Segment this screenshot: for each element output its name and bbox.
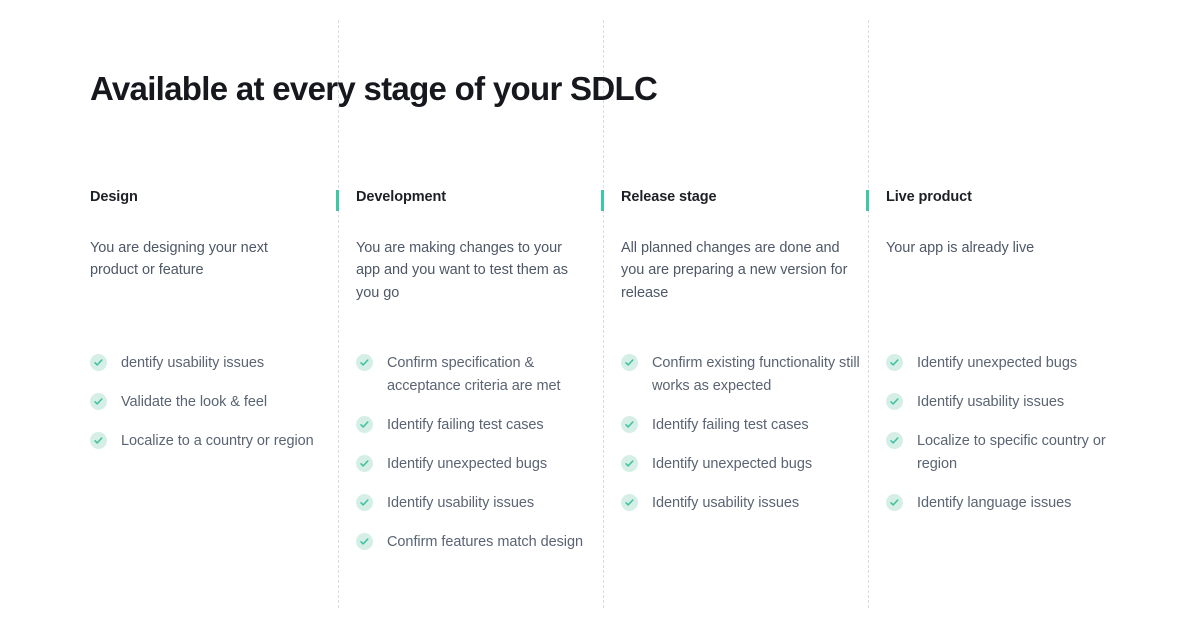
list-item: dentify usability issues — [90, 352, 330, 375]
check-circle-icon — [90, 393, 107, 410]
column-title: Design — [90, 188, 322, 207]
list-item-label: dentify usability issues — [107, 352, 264, 375]
list-item-label: Identify language issues — [903, 492, 1071, 515]
column-accent-bar — [866, 190, 869, 211]
list-item: Identify unexpected bugs — [621, 453, 861, 476]
slide-root: Available at every stage of your SDLC De… — [0, 0, 1200, 630]
stage-column-development: Development You are making changes to yo… — [356, 188, 588, 304]
list-item: Localize to specific country or region — [886, 430, 1126, 476]
list-item-label: Localize to specific country or region — [903, 430, 1126, 476]
list-item-label: Confirm specification & acceptance crite… — [373, 352, 596, 398]
column-accent-bar — [601, 190, 604, 211]
column-title: Development — [356, 188, 588, 207]
list-item-label: Identify usability issues — [638, 492, 799, 515]
list-item-label: Validate the look & feel — [107, 391, 267, 414]
check-circle-icon — [90, 432, 107, 449]
check-circle-icon — [886, 393, 903, 410]
column-accent-bar — [336, 190, 339, 211]
list-item: Confirm existing functionality still wor… — [621, 352, 861, 398]
list-item-label: Localize to a country or region — [107, 430, 314, 453]
list-item: Identify usability issues — [621, 492, 861, 515]
stage-column-live-product: Live product Your app is already live Id… — [886, 188, 1118, 259]
list-item: Identify usability issues — [356, 492, 596, 515]
column-divider-3 — [868, 20, 869, 608]
column-title: Live product — [886, 188, 1118, 207]
check-circle-icon — [621, 494, 638, 511]
check-circle-icon — [90, 354, 107, 371]
list-item-label: Identify usability issues — [373, 492, 534, 515]
column-checklist: Identify unexpected bugs Identify usabil… — [886, 352, 1126, 531]
list-item-label: Identify unexpected bugs — [638, 453, 812, 476]
column-title: Release stage — [621, 188, 853, 207]
list-item-label: Confirm existing functionality still wor… — [638, 352, 861, 398]
page-title: Available at every stage of your SDLC — [90, 70, 657, 108]
check-circle-icon — [886, 432, 903, 449]
list-item: Identify unexpected bugs — [886, 352, 1126, 375]
stage-column-release-stage: Release stage All planned changes are do… — [621, 188, 853, 304]
list-item: Validate the look & feel — [90, 391, 330, 414]
check-circle-icon — [621, 354, 638, 371]
list-item: Identify failing test cases — [621, 414, 861, 437]
column-divider-2 — [603, 20, 604, 608]
check-circle-icon — [356, 416, 373, 433]
check-circle-icon — [356, 455, 373, 472]
list-item-label: Identify unexpected bugs — [373, 453, 547, 476]
list-item: Confirm features match design — [356, 531, 596, 554]
check-circle-icon — [356, 354, 373, 371]
list-item-label: Confirm features match design — [373, 531, 583, 554]
column-divider-1 — [338, 20, 339, 608]
list-item: Identify unexpected bugs — [356, 453, 596, 476]
list-item: Localize to a country or region — [90, 430, 330, 453]
column-description: You are making changes to your app and y… — [356, 207, 584, 304]
list-item: Identify usability issues — [886, 391, 1126, 414]
check-circle-icon — [621, 455, 638, 472]
stage-column-design: Design You are designing your next produ… — [90, 188, 322, 282]
list-item-label: Identify unexpected bugs — [903, 352, 1077, 375]
list-item-label: Identify usability issues — [903, 391, 1064, 414]
list-item: Confirm specification & acceptance crite… — [356, 352, 596, 398]
check-circle-icon — [356, 494, 373, 511]
check-circle-icon — [621, 416, 638, 433]
column-checklist: Confirm specification & acceptance crite… — [356, 352, 596, 569]
list-item-label: Identify failing test cases — [373, 414, 544, 437]
check-circle-icon — [886, 354, 903, 371]
column-description: All planned changes are done and you are… — [621, 207, 849, 304]
column-description: You are designing your next product or f… — [90, 207, 318, 282]
list-item: Identify language issues — [886, 492, 1126, 515]
column-description: Your app is already live — [886, 207, 1114, 259]
check-circle-icon — [356, 533, 373, 550]
list-item: Identify failing test cases — [356, 414, 596, 437]
list-item-label: Identify failing test cases — [638, 414, 809, 437]
column-checklist: dentify usability issues Validate the lo… — [90, 352, 330, 469]
column-checklist: Confirm existing functionality still wor… — [621, 352, 861, 531]
check-circle-icon — [886, 494, 903, 511]
